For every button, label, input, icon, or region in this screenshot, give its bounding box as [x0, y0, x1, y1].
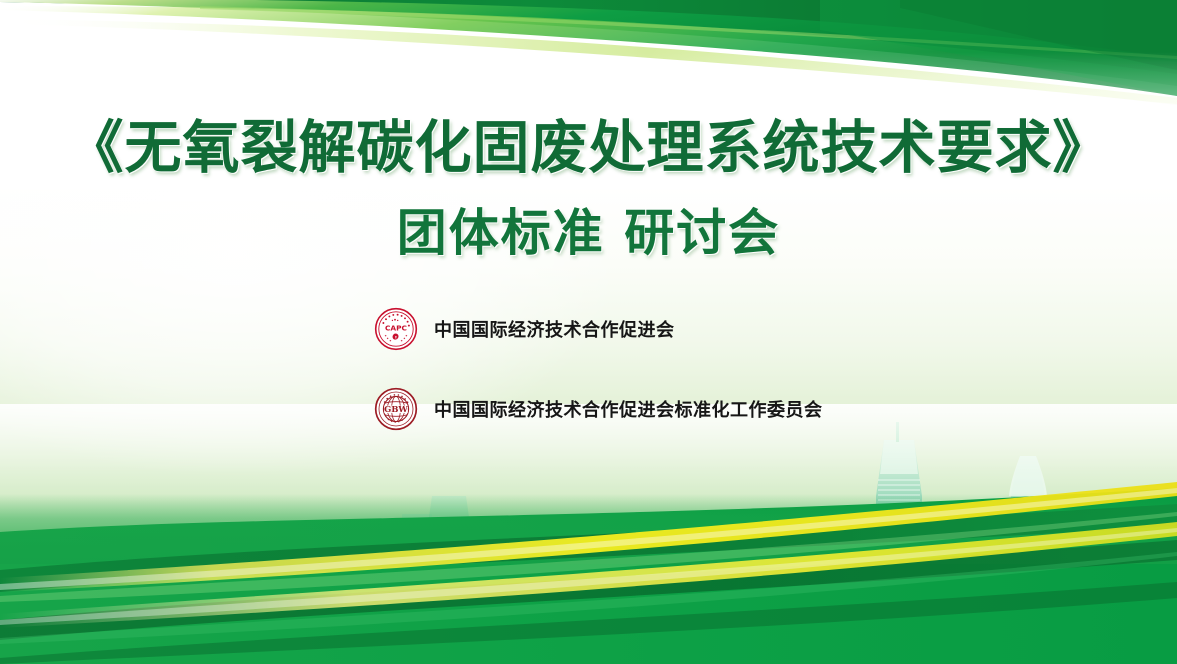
title-slide: 《无氧裂解碳化固废处理系统技术要求》 团体标准 研讨会 — [0, 0, 1177, 664]
organization-row-capc: CAPC — [374, 306, 1114, 352]
page-subtitle: 团体标准 研讨会 — [0, 200, 1177, 266]
organization-label: 中国国际经济技术合作促进会标准化工作委员会 — [434, 396, 823, 422]
svg-text:GBW: GBW — [384, 404, 408, 414]
page-title: 《无氧裂解碳化固废处理系统技术要求》 — [0, 112, 1177, 184]
organization-list: CAPC — [374, 306, 1114, 432]
organization-label: 中国国际经济技术合作促进会 — [434, 316, 675, 342]
gbw-seal-icon: GBW — [374, 387, 418, 431]
capc-seal-icon: CAPC — [374, 307, 418, 351]
svg-text:CAPC: CAPC — [385, 323, 407, 332]
organization-row-gbw: GBW — [374, 386, 1114, 432]
slide-content: 《无氧裂解碳化固废处理系统技术要求》 团体标准 研讨会 — [0, 0, 1177, 664]
